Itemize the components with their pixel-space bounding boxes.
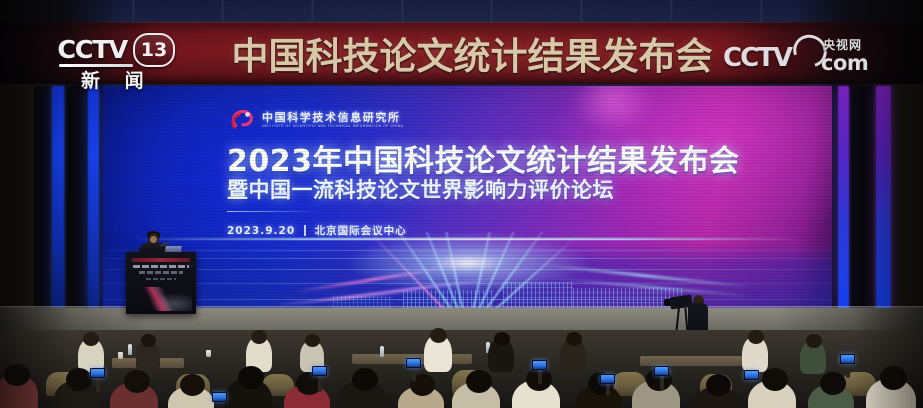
water-cup (118, 352, 123, 359)
audience-phone (312, 366, 327, 376)
wall-panel-dark-right (851, 86, 873, 310)
audience-member-head (305, 334, 320, 347)
podium-title-line-3 (146, 278, 176, 280)
audience-phone (840, 354, 855, 364)
podium-title-line-2 (139, 271, 183, 274)
water-bottle (128, 344, 132, 355)
audience-phone (744, 370, 759, 380)
audience-phone (532, 360, 547, 370)
audience-member-head (820, 372, 846, 395)
channel-bug-network: CCTV (57, 35, 127, 64)
audience-member-head (430, 328, 447, 343)
audience-member-head (352, 368, 378, 391)
watermark-cctv-com: CCTV 央视网 com (723, 34, 871, 82)
wall-panel-blue-2 (88, 86, 99, 310)
channel-bug-number: 13 (133, 33, 175, 67)
audience-phone (654, 366, 669, 376)
audience-member-head (706, 374, 731, 396)
audience-area (0, 330, 923, 408)
channel-bug-cctv13: CCTV 13 新 闻 (57, 33, 173, 89)
podium (126, 252, 196, 314)
audience-phone (406, 358, 421, 368)
podium-graphic-artwork (130, 287, 192, 311)
wall-panel-purple-2 (876, 86, 891, 310)
wall-panel-blue-1 (52, 86, 64, 310)
audience-member-head (494, 332, 510, 346)
audience-member-head (141, 334, 156, 347)
led-vignette (103, 86, 832, 308)
audience-member-head (566, 332, 582, 346)
stage-led-screen: 中国科学技术信息研究所 INSTITUTE OF SCIENTIFIC AND … (103, 86, 832, 308)
watermark-domain: com (821, 51, 868, 75)
audience-member-head (4, 364, 30, 386)
wall-panel-dark-left2 (66, 86, 86, 310)
speaker-face (150, 236, 157, 243)
channel-bug-name: 新 闻 (81, 66, 153, 93)
audience-member-head (83, 332, 99, 346)
audience-member-head (180, 374, 205, 396)
watermark-network: CCTV (723, 43, 791, 73)
audience-member-head (466, 370, 492, 393)
audience-table (640, 356, 750, 366)
podium-logo-bar (132, 258, 190, 262)
water-bottle (380, 346, 384, 357)
wall-panel-purple-1 (838, 86, 849, 310)
audience-phone (600, 374, 615, 384)
audience-member-head (806, 334, 822, 348)
audience-member-head (748, 330, 764, 344)
audience-member-head (880, 366, 907, 390)
audience-phone (90, 368, 105, 378)
audience-member-head (238, 366, 264, 389)
audience-member-head (66, 368, 92, 391)
audience-member-head (251, 330, 267, 344)
water-cup (206, 350, 211, 357)
broadcast-frame: 中国科学技术信息研究所 INSTITUTE OF SCIENTIFIC AND … (0, 0, 923, 408)
wall-panel-dark-left (34, 86, 50, 310)
audience-member-head (124, 370, 150, 393)
audience-phone (212, 392, 227, 402)
podium-title-line-1 (133, 265, 189, 268)
banner-headline: 中国科技论文统计结果发布会 (198, 26, 746, 80)
audience-member-head (762, 368, 788, 391)
